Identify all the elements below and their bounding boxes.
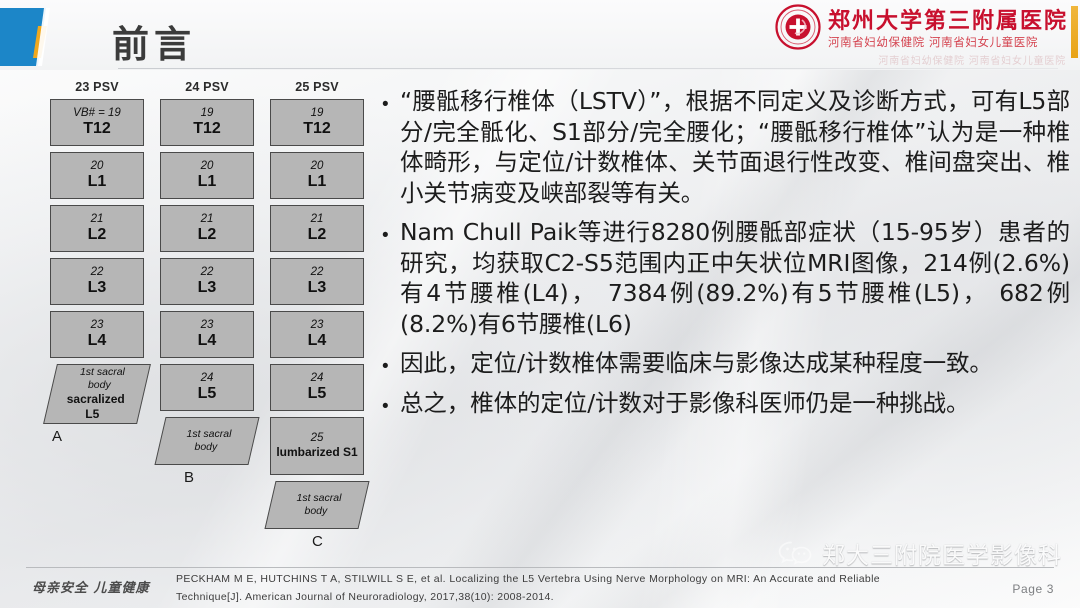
vertebra-label: L4 — [198, 332, 217, 350]
hospital-seal-icon — [775, 4, 821, 55]
bullet-marker-icon: • — [382, 348, 400, 376]
diagram-column-c: 25 PSV 19 T12 20 L1 21 L2 22 — [270, 80, 364, 550]
vertebra-label: L2 — [308, 226, 327, 244]
vertebra-block: 19 T12 — [270, 99, 364, 146]
bullet-item: • 总之，椎体的定位/计数对于影像科医师仍是一种挑战。 — [382, 388, 1070, 419]
vertebra-number: 20 — [201, 160, 214, 173]
vertebra-number: 20 — [91, 160, 104, 173]
sacral-line-3: sacralized — [67, 392, 125, 407]
vertebra-block: 21 L2 — [270, 205, 364, 252]
vertebra-block: 23 L4 — [50, 311, 144, 358]
panel-letter-a: A — [50, 428, 144, 445]
vertebra-number: 24 — [201, 372, 214, 385]
column-header-c: 25 PSV — [270, 80, 364, 94]
title-accent-shape — [0, 8, 56, 66]
vertebra-label: L3 — [88, 279, 107, 297]
bullet-item: • “腰骶移行椎体（LSTV）”，根据不同定义及诊断方式，可有L5部分/完全骶化… — [382, 86, 1070, 208]
sacral-body-block-a: 1st sacral body sacralized L5 — [43, 364, 151, 424]
slide-body-content: • “腰骶移行椎体（LSTV）”，根据不同定义及诊断方式，可有L5部分/完全骶化… — [382, 86, 1070, 427]
vertebra-list-a: VB# = 19 T12 20 L1 21 L2 22 L3 — [50, 99, 144, 358]
vertebra-block-lumbarized: 25 lumbarized S1 — [270, 417, 364, 475]
vertebra-block: 21 L2 — [50, 205, 144, 252]
vertebra-list-b: 19 T12 20 L1 21 L2 22 L3 — [160, 99, 254, 411]
header-divider — [118, 68, 1058, 69]
vertebra-label: T12 — [83, 120, 111, 138]
vertebra-label: L2 — [88, 226, 107, 244]
vertebra-number: VB# = 19 — [73, 107, 121, 120]
vertebra-number: 25 — [311, 432, 324, 445]
slide-canvas: 前言 郑州大学第三附属医院 河南省妇幼保健院 河南省妇女儿童医院 河南省妇幼保健… — [0, 0, 1080, 608]
bullet-text: 总之，椎体的定位/计数对于影像科医师仍是一种挑战。 — [400, 388, 1070, 419]
vertebra-number: 20 — [311, 160, 324, 173]
page-title: 前言 — [112, 14, 196, 68]
bullet-item: • Nam Chull Paik等进行8280例腰骶部症状（15-95岁）患者的… — [382, 217, 1070, 339]
vertebra-label: L4 — [308, 332, 327, 350]
vertebra-label: lumbarized S1 — [276, 445, 357, 459]
logo-text-block: 郑州大学第三附属医院 河南省妇幼保健院 河南省妇女儿童医院 — [828, 10, 1068, 49]
logo-hospital-subtitle: 河南省妇幼保健院 河南省妇女儿童医院 — [828, 37, 1068, 49]
footer-tagline: 母亲安全 儿童健康 — [32, 577, 150, 596]
vertebra-number: 23 — [91, 319, 104, 332]
vertebra-list-c: 19 T12 20 L1 21 L2 22 L3 — [270, 99, 364, 475]
vertebra-number: 19 — [311, 107, 324, 120]
sacral-line-1: 1st sacral — [80, 366, 125, 379]
vertebra-label: L1 — [198, 173, 217, 191]
bullet-item: • 因此，定位/计数椎体需要临床与影像达成某种程度一致。 — [382, 348, 1070, 379]
vertebra-number: 21 — [201, 213, 214, 226]
slide-header: 前言 郑州大学第三附属医院 河南省妇幼保健院 河南省妇女儿童医院 河南省妇幼保健… — [0, 0, 1080, 70]
vertebra-block: 22 L3 — [270, 258, 364, 305]
reference-citation: PECKHAM M E, HUTCHINS T A, STILWILL S E,… — [176, 570, 880, 607]
sacral-line-1: 1st sacral — [296, 492, 341, 505]
sacral-body-block-c: 1st sacral body — [264, 481, 369, 529]
diagram-column-a: 23 PSV VB# = 19 T12 20 L1 21 L2 — [50, 80, 144, 550]
vertebra-label: L5 — [198, 385, 217, 403]
vertebra-number: 24 — [311, 372, 324, 385]
bullet-text: “腰骶移行椎体（LSTV）”，根据不同定义及诊断方式，可有L5部分/完全骶化、S… — [400, 86, 1070, 208]
vertebra-block: 22 L3 — [50, 258, 144, 305]
sacral-body-block-b: 1st sacral body — [154, 417, 259, 465]
vertebra-block: 23 L4 — [270, 311, 364, 358]
vertebra-number: 19 — [201, 107, 214, 120]
vertebra-number: 23 — [201, 319, 214, 332]
logo-hospital-name: 郑州大学第三附属医院 — [828, 10, 1068, 32]
vertebra-number: 21 — [311, 213, 324, 226]
diagram-columns: 23 PSV VB# = 19 T12 20 L1 21 L2 — [50, 80, 380, 550]
vertebra-number: 22 — [201, 266, 214, 279]
vertebra-diagram: 23 PSV VB# = 19 T12 20 L1 21 L2 — [50, 80, 380, 560]
diagram-column-b: 24 PSV 19 T12 20 L1 21 L2 22 — [160, 80, 254, 550]
sacral-line-2: body — [194, 441, 217, 454]
vertebra-label: L4 — [88, 332, 107, 350]
panel-letter-c: C — [270, 533, 364, 550]
sacral-line-4: L5 — [85, 407, 99, 422]
vertebra-number: 23 — [311, 319, 324, 332]
vertebra-label: L1 — [308, 173, 327, 191]
vertebra-label: L1 — [88, 173, 107, 191]
wechat-icon — [778, 539, 814, 567]
sacral-line-2: body — [304, 505, 327, 518]
page-number: Page 3 — [1012, 582, 1054, 596]
vertebra-block: 22 L3 — [160, 258, 254, 305]
bullet-marker-icon: • — [382, 388, 400, 416]
bullet-text: 因此，定位/计数椎体需要临床与影像达成某种程度一致。 — [400, 348, 1070, 379]
vertebra-label: T12 — [303, 120, 331, 138]
vertebra-number: 22 — [311, 266, 324, 279]
vertebra-label: L3 — [198, 279, 217, 297]
bullet-marker-icon: • — [382, 86, 400, 114]
sacral-line-2: body — [88, 379, 111, 392]
column-header-a: 23 PSV — [50, 80, 144, 94]
vertebra-block: 19 T12 — [160, 99, 254, 146]
logo-orange-bar — [1071, 6, 1078, 58]
wechat-account-name: 郑大三附院医学影像科 — [822, 536, 1062, 570]
slide-footer: 母亲安全 儿童健康 PECKHAM M E, HUTCHINS T A, STI… — [0, 568, 1080, 608]
hospital-logo: 郑州大学第三附属医院 河南省妇幼保健院 河南省妇女儿童医院 — [775, 4, 1068, 55]
vertebra-number: 21 — [91, 213, 104, 226]
bullet-marker-icon: • — [382, 217, 400, 245]
vertebra-label: L5 — [308, 385, 327, 403]
vertebra-block: VB# = 19 T12 — [50, 99, 144, 146]
vertebra-block: 24 L5 — [270, 364, 364, 411]
logo-reflection-text: 河南省妇幼保健院 河南省妇女儿童医院 — [878, 52, 1066, 67]
vertebra-label: T12 — [193, 120, 221, 138]
vertebra-block: 20 L1 — [270, 152, 364, 199]
seal-svg — [775, 4, 821, 50]
vertebra-number: 22 — [91, 266, 104, 279]
sacral-line-1: 1st sacral — [186, 428, 231, 441]
vertebra-block: 21 L2 — [160, 205, 254, 252]
vertebra-block: 24 L5 — [160, 364, 254, 411]
wechat-watermark: 郑大三附院医学影像科 — [778, 536, 1062, 570]
column-header-b: 24 PSV — [160, 80, 254, 94]
vertebra-block: 23 L4 — [160, 311, 254, 358]
vertebra-block: 20 L1 — [50, 152, 144, 199]
bullet-text: Nam Chull Paik等进行8280例腰骶部症状（15-95岁）患者的研究… — [400, 217, 1070, 339]
panel-letter-b: B — [160, 469, 254, 486]
accent-svg — [0, 8, 56, 66]
vertebra-label: L3 — [308, 279, 327, 297]
vertebra-label: L2 — [198, 226, 217, 244]
vertebra-block: 20 L1 — [160, 152, 254, 199]
